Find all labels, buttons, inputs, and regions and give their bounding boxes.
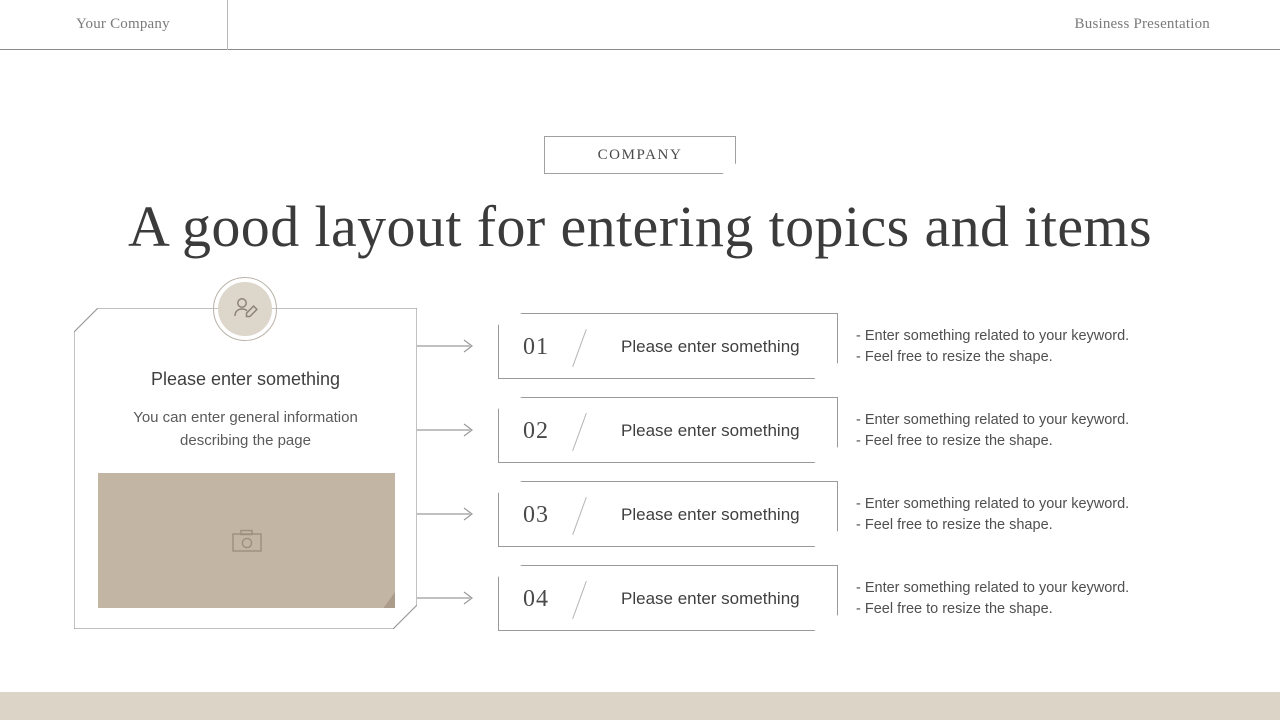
topic-row-03[interactable]: 03 Please enter something - Enter someth… bbox=[498, 481, 1178, 547]
topic-number-01: 01 bbox=[523, 334, 549, 361]
header-company-label: Your Company bbox=[76, 16, 170, 33]
avatar-disc bbox=[218, 282, 272, 336]
topic-notes-line1: - Enter something related to your keywor… bbox=[856, 326, 1186, 347]
header-presentation-label: Business Presentation bbox=[1075, 16, 1210, 33]
topic-notes-01: - Enter something related to your keywor… bbox=[856, 326, 1186, 368]
topic-slash-divider bbox=[572, 581, 587, 619]
topic-row-01[interactable]: 01 Please enter something - Enter someth… bbox=[498, 313, 1178, 379]
topic-box-02[interactable]: 02 Please enter something bbox=[498, 397, 838, 463]
slide-header: Your Company Business Presentation bbox=[0, 0, 1280, 50]
topic-number-04: 04 bbox=[523, 586, 549, 613]
topic-slash-divider bbox=[572, 329, 587, 367]
topic-notes-03: - Enter something related to your keywor… bbox=[856, 494, 1186, 536]
topic-slash-divider bbox=[572, 497, 587, 535]
topic-number-03: 03 bbox=[523, 502, 549, 529]
topic-box-01[interactable]: 01 Please enter something bbox=[498, 313, 838, 379]
topic-notes-line2: - Feel free to resize the shape. bbox=[856, 599, 1186, 620]
topic-notes-line1: - Enter something related to your keywor… bbox=[856, 410, 1186, 431]
topic-notes-line2: - Feel free to resize the shape. bbox=[856, 431, 1186, 452]
topic-notes-line1: - Enter something related to your keywor… bbox=[856, 494, 1186, 515]
topic-box-03[interactable]: 03 Please enter something bbox=[498, 481, 838, 547]
topic-notes-02: - Enter something related to your keywor… bbox=[856, 410, 1186, 452]
left-info-card: Please enter something You can enter gen… bbox=[74, 308, 417, 629]
topic-row-04[interactable]: 04 Please enter something - Enter someth… bbox=[498, 565, 1178, 631]
topic-label-04: Please enter something bbox=[621, 589, 800, 609]
topic-row-02[interactable]: 02 Please enter something - Enter someth… bbox=[498, 397, 1178, 463]
topic-notes-line1: - Enter something related to your keywor… bbox=[856, 578, 1186, 599]
camera-icon bbox=[232, 529, 262, 553]
left-card-title: Please enter something bbox=[74, 369, 417, 390]
topic-notes-line2: - Feel free to resize the shape. bbox=[856, 515, 1186, 536]
photo-placeholder bbox=[98, 473, 395, 608]
topic-number-02: 02 bbox=[523, 418, 549, 445]
company-badge: COMPANY bbox=[544, 136, 736, 174]
avatar bbox=[213, 277, 277, 341]
company-badge-label: COMPANY bbox=[598, 147, 683, 164]
topic-notes-04: - Enter something related to your keywor… bbox=[856, 578, 1186, 620]
topic-slash-divider bbox=[572, 413, 587, 451]
page-title: A good layout for entering topics and it… bbox=[0, 193, 1280, 260]
topic-label-03: Please enter something bbox=[621, 505, 800, 525]
topic-box-04[interactable]: 04 Please enter something bbox=[498, 565, 838, 631]
left-card-description: You can enter general information descri… bbox=[102, 406, 389, 452]
user-edit-icon bbox=[231, 295, 259, 323]
topic-label-01: Please enter something bbox=[621, 337, 800, 357]
footer-bar bbox=[0, 692, 1280, 720]
header-vertical-divider bbox=[227, 0, 228, 50]
topic-notes-line2: - Feel free to resize the shape. bbox=[856, 347, 1186, 368]
topic-label-02: Please enter something bbox=[621, 421, 800, 441]
